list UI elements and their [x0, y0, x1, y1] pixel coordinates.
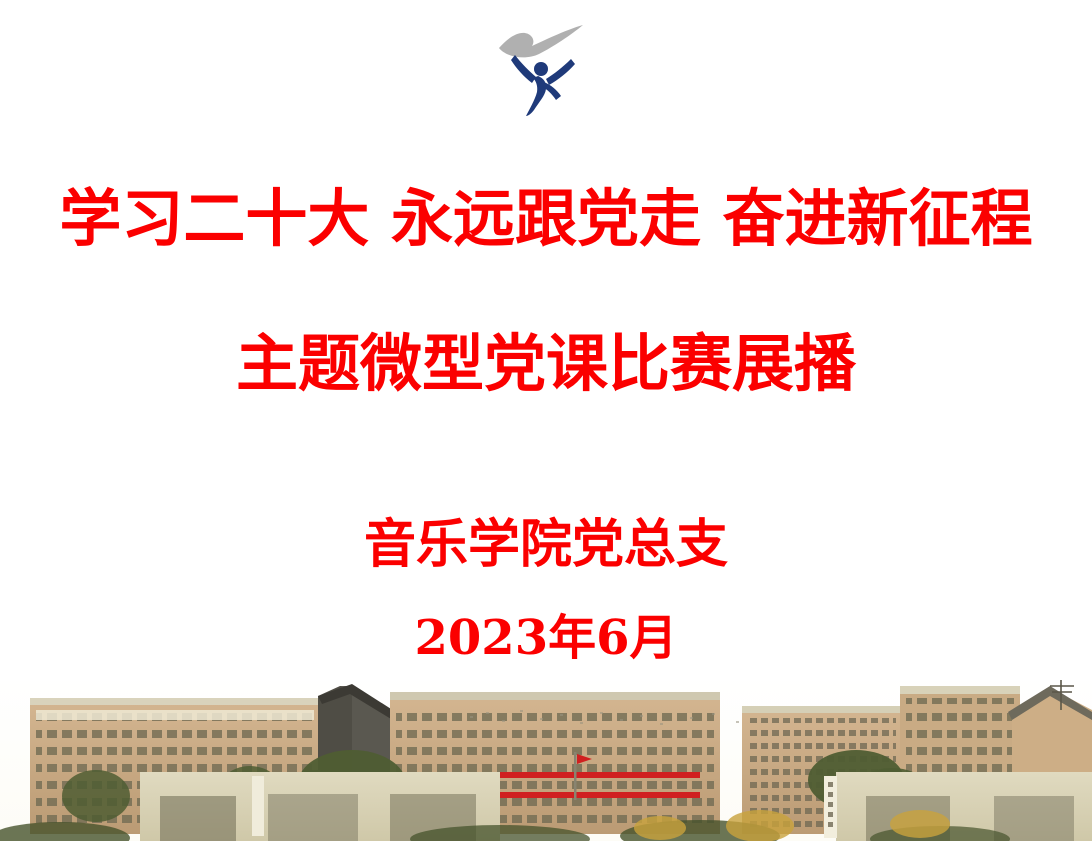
flag-pole — [574, 752, 577, 800]
date-label: 2023年6月 — [0, 608, 1092, 668]
school-emblem-icon — [491, 22, 601, 118]
logo-container — [0, 22, 1092, 118]
campus-photo-illustration — [0, 676, 1092, 841]
left-sign-plaque — [252, 776, 264, 836]
dancer-left-arm — [511, 55, 536, 83]
presentation-slide: 学习二十大 永远跟党走 奋进新征程 主题微型党课比赛展播 音乐学院党总支 202… — [0, 0, 1092, 841]
campus-building-photo — [0, 676, 1092, 841]
headline-line-2: 主题微型党课比赛展播 — [0, 328, 1092, 400]
organization-name: 音乐学院党总支 — [0, 514, 1092, 576]
dancer-head — [534, 62, 548, 76]
headline-line-1: 学习二十大 永远跟党走 奋进新征程 — [0, 183, 1092, 255]
dancer-right-arm — [546, 59, 575, 85]
dancer-torso-leg — [526, 76, 546, 116]
gull-swoosh-shape — [499, 25, 583, 57]
